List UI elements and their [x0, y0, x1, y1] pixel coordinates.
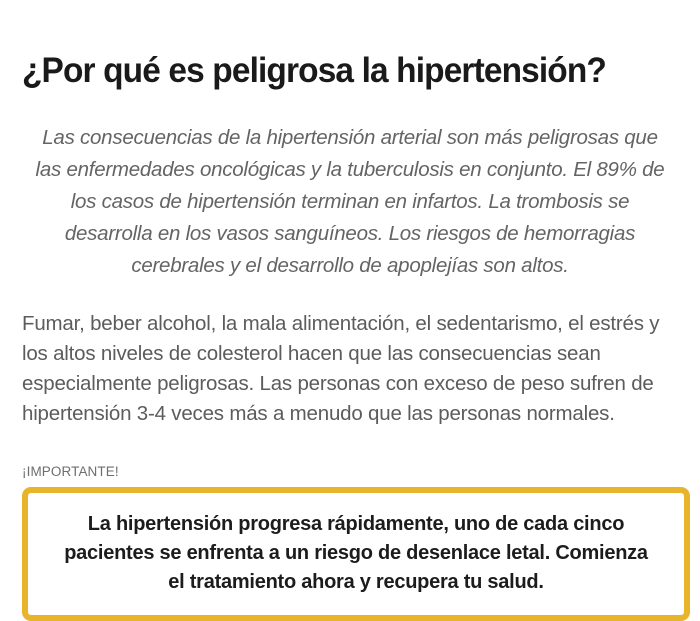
important-label: ¡IMPORTANTE! — [22, 429, 678, 487]
important-callout-box: La hipertensión progresa rápidamente, un… — [22, 487, 690, 621]
article-page: ¿Por qué es peligrosa la hipertensión? L… — [0, 0, 700, 620]
lead-paragraph: Las consecuencias de la hipertensión art… — [22, 92, 678, 282]
body-paragraph: Fumar, beber alcohol, la mala alimentaci… — [22, 282, 678, 429]
callout-text: La hipertensión progresa rápidamente, un… — [54, 510, 658, 597]
page-title: ¿Por qué es peligrosa la hipertensión? — [22, 0, 648, 92]
